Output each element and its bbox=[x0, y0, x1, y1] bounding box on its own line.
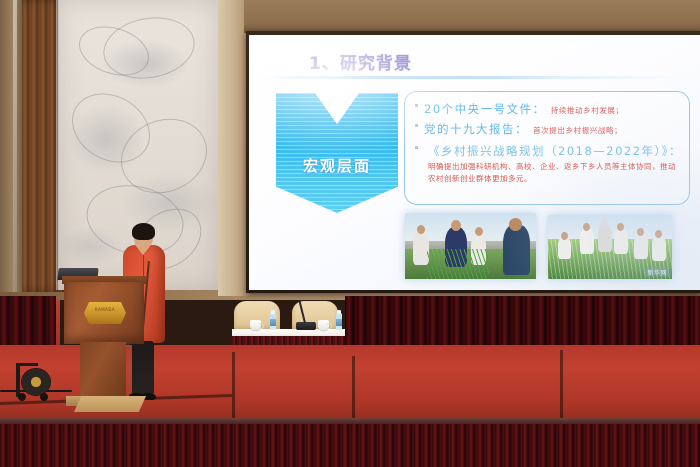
photo-figure-head bbox=[601, 219, 608, 227]
photo-figure-head bbox=[561, 232, 568, 240]
podium-plaque: RAMADA bbox=[84, 302, 126, 324]
bullet-1-heading: 20个中央一号文件： bbox=[424, 102, 546, 116]
macro-level-badge: 宏观层面 bbox=[276, 93, 398, 213]
photo-figure-head bbox=[451, 220, 461, 231]
bullet-dot-icon bbox=[415, 104, 418, 107]
photo-figure bbox=[598, 224, 612, 252]
shield-shape bbox=[276, 93, 398, 213]
podium: RAMADA bbox=[62, 276, 146, 412]
photo-figure bbox=[634, 233, 648, 259]
photo-figure-head bbox=[583, 223, 590, 231]
wooden-ramp bbox=[74, 396, 146, 412]
cable-reel bbox=[16, 363, 56, 399]
photo-figure-head bbox=[655, 230, 662, 238]
photo-figure bbox=[614, 228, 628, 254]
reel-handle bbox=[16, 363, 38, 366]
reel-drum bbox=[22, 369, 50, 395]
table-microphone bbox=[296, 322, 316, 330]
photo-figure bbox=[652, 235, 666, 261]
bullet-dot-icon bbox=[415, 146, 418, 149]
bullet-dot-icon bbox=[415, 124, 418, 127]
teacup bbox=[318, 320, 329, 330]
photo-figure-head bbox=[637, 228, 644, 236]
bullet-2-note: 首次提出乡村振兴战略； bbox=[533, 126, 622, 135]
stage-panel-seam bbox=[232, 352, 235, 418]
badge-label: 宏观层面 bbox=[276, 155, 398, 176]
photo-figure-head bbox=[475, 227, 483, 236]
photo-figure-head bbox=[417, 225, 425, 234]
stage-skirt bbox=[0, 424, 700, 467]
podium-stem bbox=[80, 342, 126, 400]
title-underline bbox=[263, 76, 683, 79]
podium-body: RAMADA bbox=[64, 282, 144, 344]
slide-photo-wheat-field: 新华网 bbox=[548, 215, 672, 279]
slide-title: 1、研究背景 bbox=[309, 49, 412, 74]
door-jamb bbox=[0, 0, 24, 292]
photo-figure bbox=[558, 237, 571, 259]
bullet-3-heading: 《乡村振兴战略规划（2018—2022年）》： bbox=[428, 144, 682, 158]
photo-figure bbox=[580, 228, 594, 254]
photo-watermark: 新华网 bbox=[645, 268, 669, 277]
projection-screen: 1、研究背景 宏观层面 20个中央一号文件： 持续推动乡村发展； 党的十九大报告… bbox=[249, 35, 700, 290]
bullet-2-heading: 党的十九大报告： bbox=[424, 122, 528, 136]
reel-frame bbox=[16, 365, 20, 397]
reel-wheel bbox=[40, 393, 48, 401]
back-curtain-left bbox=[0, 296, 56, 352]
photo-crop-leaves bbox=[427, 249, 489, 279]
speaker-hair bbox=[132, 223, 155, 240]
reel-wheel bbox=[18, 393, 26, 401]
photo-figure-head bbox=[509, 218, 522, 231]
podium-plaque-text: RAMADA bbox=[84, 307, 126, 312]
bullet-1-note: 持续推动乡村发展； bbox=[551, 106, 624, 115]
bullet-item-2: 党的十九大报告： 首次提出乡村振兴战略； bbox=[415, 118, 681, 137]
slide-photo-field-inspection bbox=[405, 213, 536, 279]
stage-panel-seam bbox=[560, 350, 563, 418]
water-bottle bbox=[270, 313, 276, 330]
wall-above-screen bbox=[244, 0, 700, 33]
jamb-strip bbox=[13, 0, 17, 292]
photo-figure-head bbox=[617, 223, 624, 231]
bullet-3-body: 明确提出加强科研机构、高校、企业、返乡下乡人员等主体协同，推动农村创新创业群体更… bbox=[428, 161, 681, 185]
photo-figure bbox=[503, 225, 530, 275]
teacup bbox=[250, 320, 261, 330]
stage-panel-seam bbox=[352, 356, 355, 418]
water-bottle bbox=[336, 313, 342, 330]
back-curtain-right bbox=[345, 296, 700, 352]
conference-photo-scene: 1、研究背景 宏观层面 20个中央一号文件： 持续推动乡村发展； 党的十九大报告… bbox=[0, 0, 700, 467]
bullet-item-1: 20个中央一号文件： 持续推动乡村发展； bbox=[415, 98, 681, 117]
bullet-text-panel: 20个中央一号文件： 持续推动乡村发展； 党的十九大报告： 首次提出乡村振兴战略… bbox=[404, 91, 690, 205]
bullet-item-3: 《乡村振兴战略规划（2018—2022年）》： 明确提出加强科研机构、高校、企业… bbox=[415, 140, 681, 185]
